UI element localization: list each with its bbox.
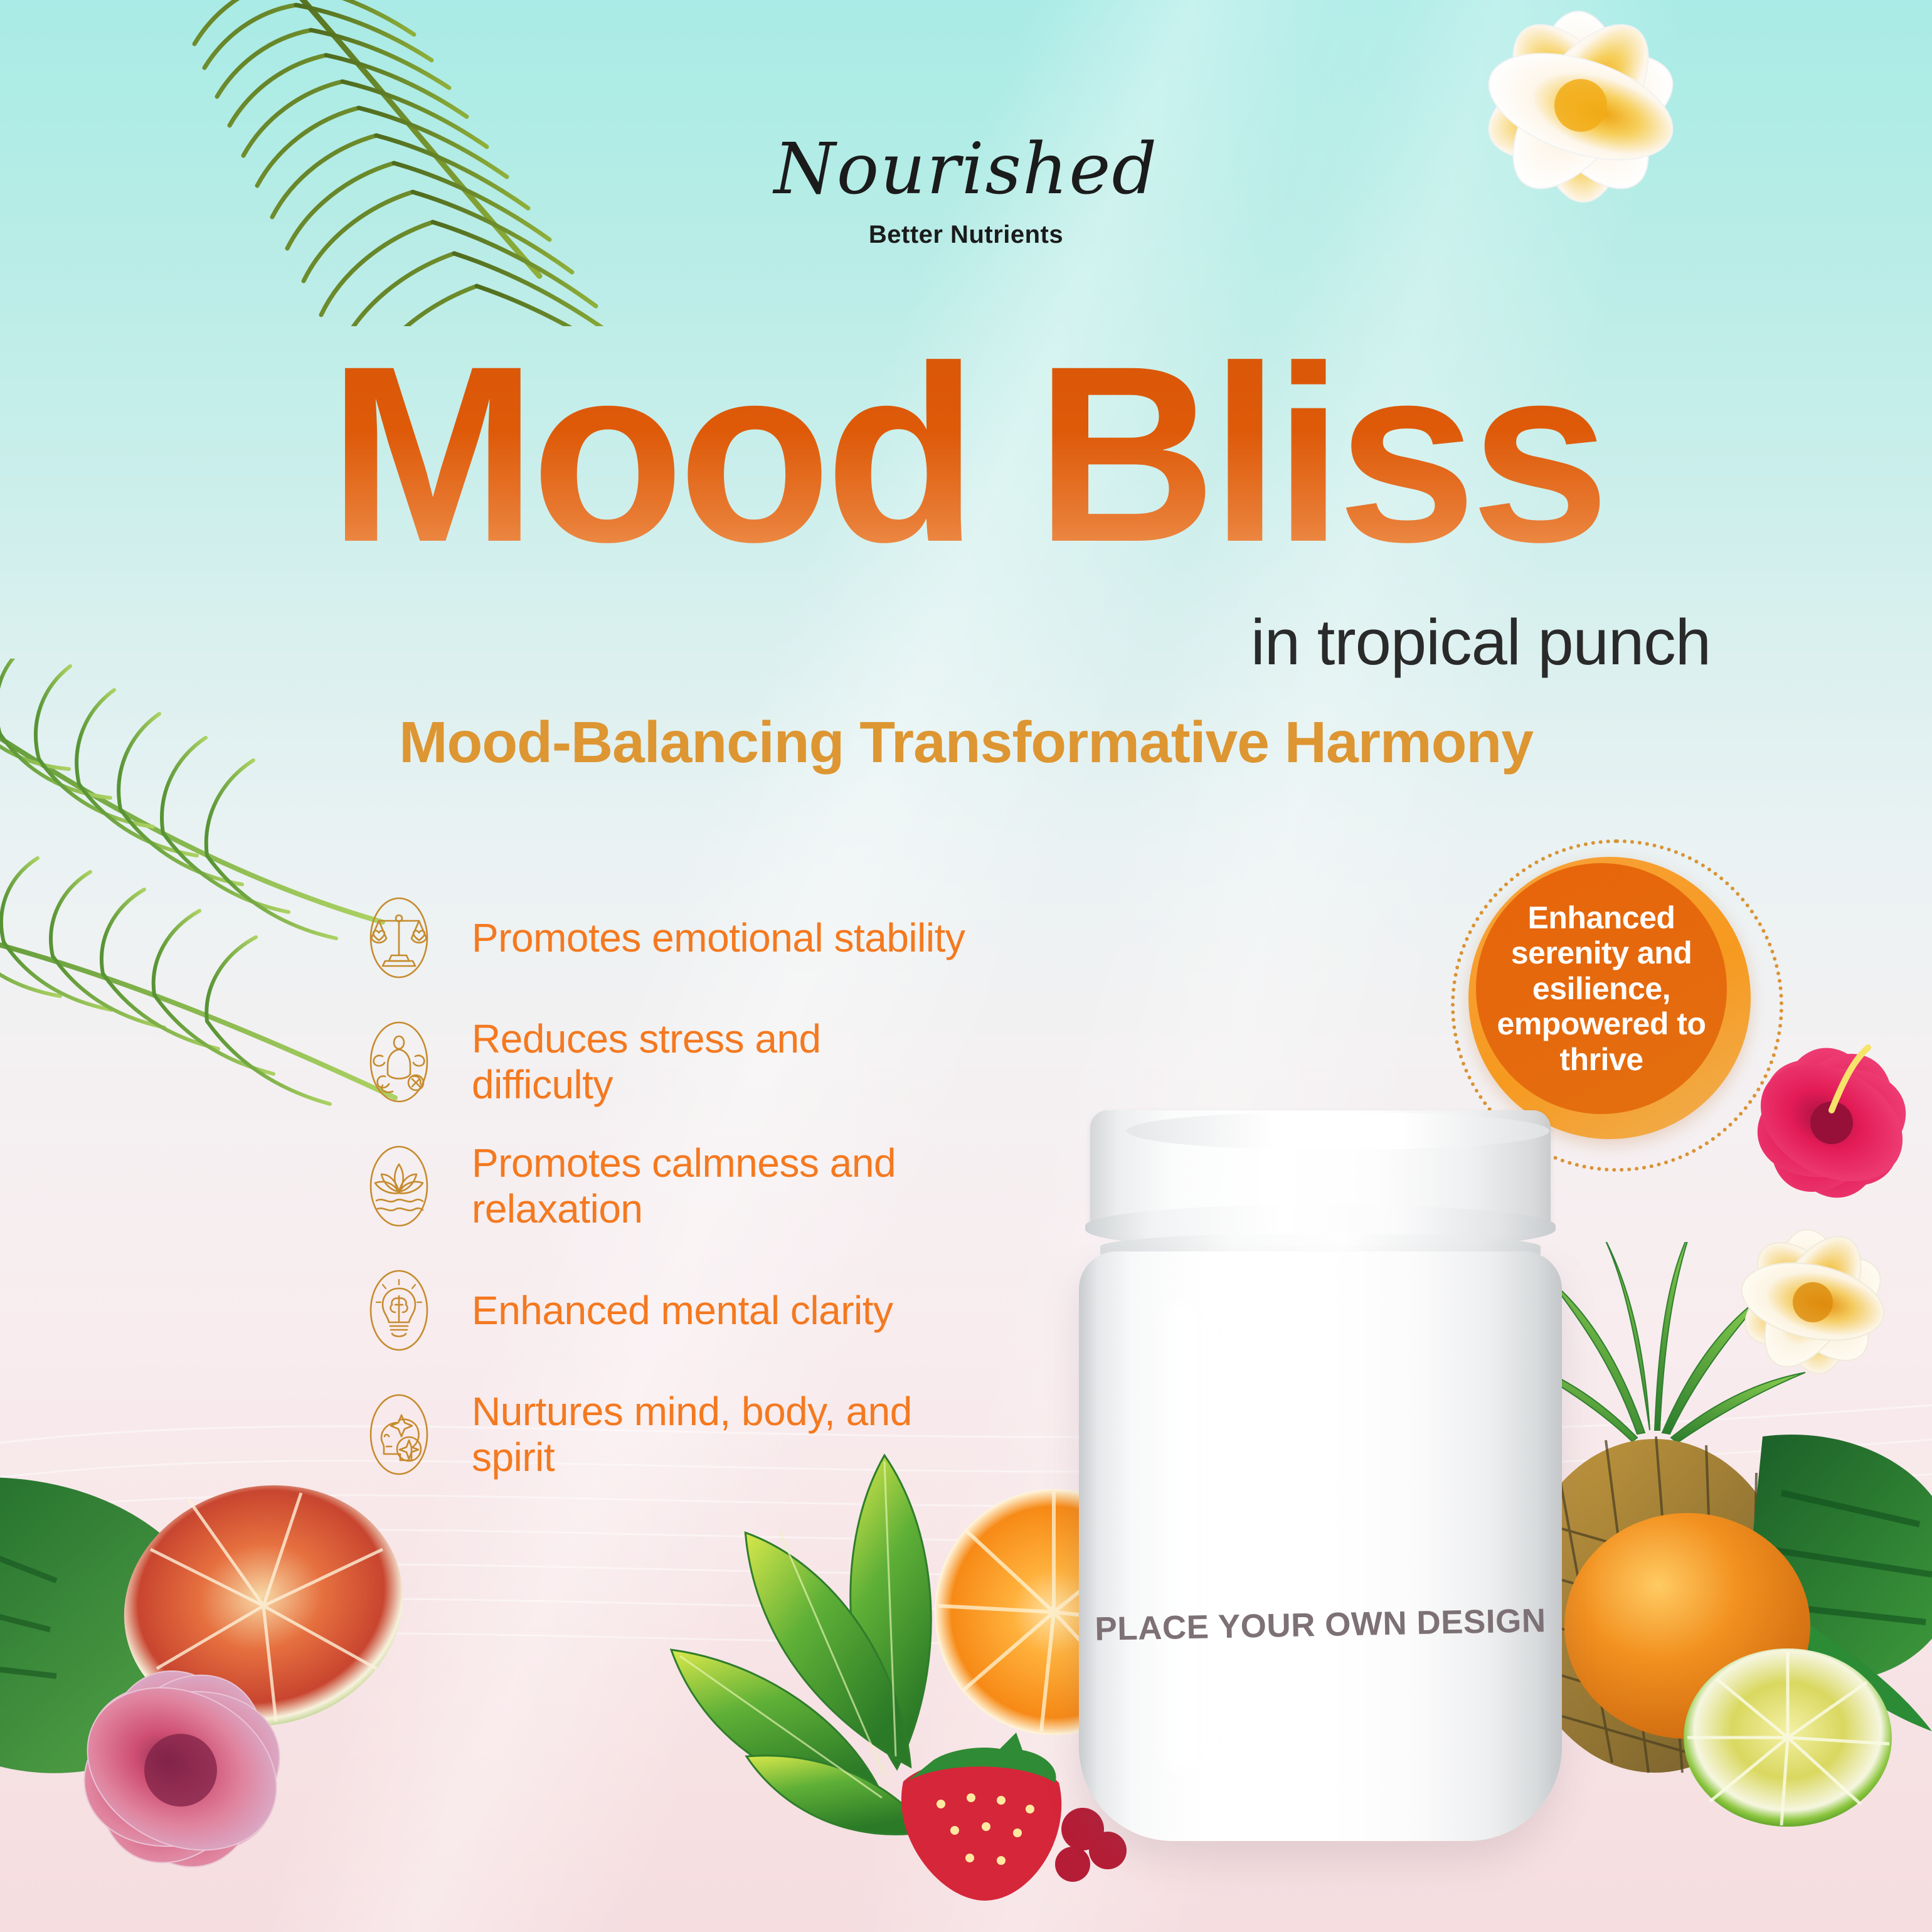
- poster-canvas: Nourished Better Nutrients Mood Bliss in…: [0, 0, 1932, 1932]
- head-sparkles-icon: [364, 1388, 434, 1482]
- brand-tagline: Better Nutrients: [0, 221, 1932, 249]
- list-item: Promotes emotional stability: [364, 881, 966, 994]
- benefit-label: Promotes calmness and relaxation: [472, 1140, 966, 1232]
- product-jar: PLACE YOUR OWN DESIGN: [1073, 1110, 1568, 1850]
- benefit-label: Reduces stress and difficulty: [472, 1016, 966, 1108]
- benefit-label: Nurtures mind, body, and spirit: [472, 1389, 966, 1480]
- badge-inner-disc: Enhanced serenity and esilience, empower…: [1476, 863, 1727, 1114]
- product-tagline: Mood-Balancing Transformative Harmony: [0, 709, 1932, 776]
- list-item: Enhanced mental clarity: [364, 1254, 966, 1367]
- brand-name: Nourished: [0, 134, 1932, 204]
- benefits-list: Promotes emotional stability: [364, 881, 966, 1491]
- jar-highlight: [1148, 1298, 1217, 1775]
- lightbulb-brain-icon: [364, 1263, 434, 1357]
- hero-headline-block: Mood Bliss: [0, 339, 1932, 570]
- benefit-label: Promotes emotional stability: [472, 915, 965, 961]
- badge-label: Enhanced serenity and esilience, empower…: [1476, 900, 1727, 1078]
- benefit-label: Enhanced mental clarity: [472, 1288, 893, 1334]
- balance-scale-hearts-icon: [364, 891, 434, 985]
- product-flavor: in tropical punch: [1251, 605, 1711, 679]
- badge-outer-disc: Enhanced serenity and esilience, empower…: [1468, 857, 1751, 1139]
- page-title: Mood Bliss: [328, 339, 1603, 570]
- list-item: Nurtures mind, body, and spirit: [364, 1378, 966, 1491]
- jar-lid-top: [1127, 1113, 1549, 1149]
- list-item: Reduces stress and difficulty: [364, 1006, 966, 1118]
- lotus-flower-icon: [364, 1139, 434, 1233]
- meditating-person-icon: [364, 1015, 434, 1109]
- list-item: Promotes calmness and relaxation: [364, 1130, 966, 1243]
- brand-logo: Nourished Better Nutrients: [0, 134, 1932, 249]
